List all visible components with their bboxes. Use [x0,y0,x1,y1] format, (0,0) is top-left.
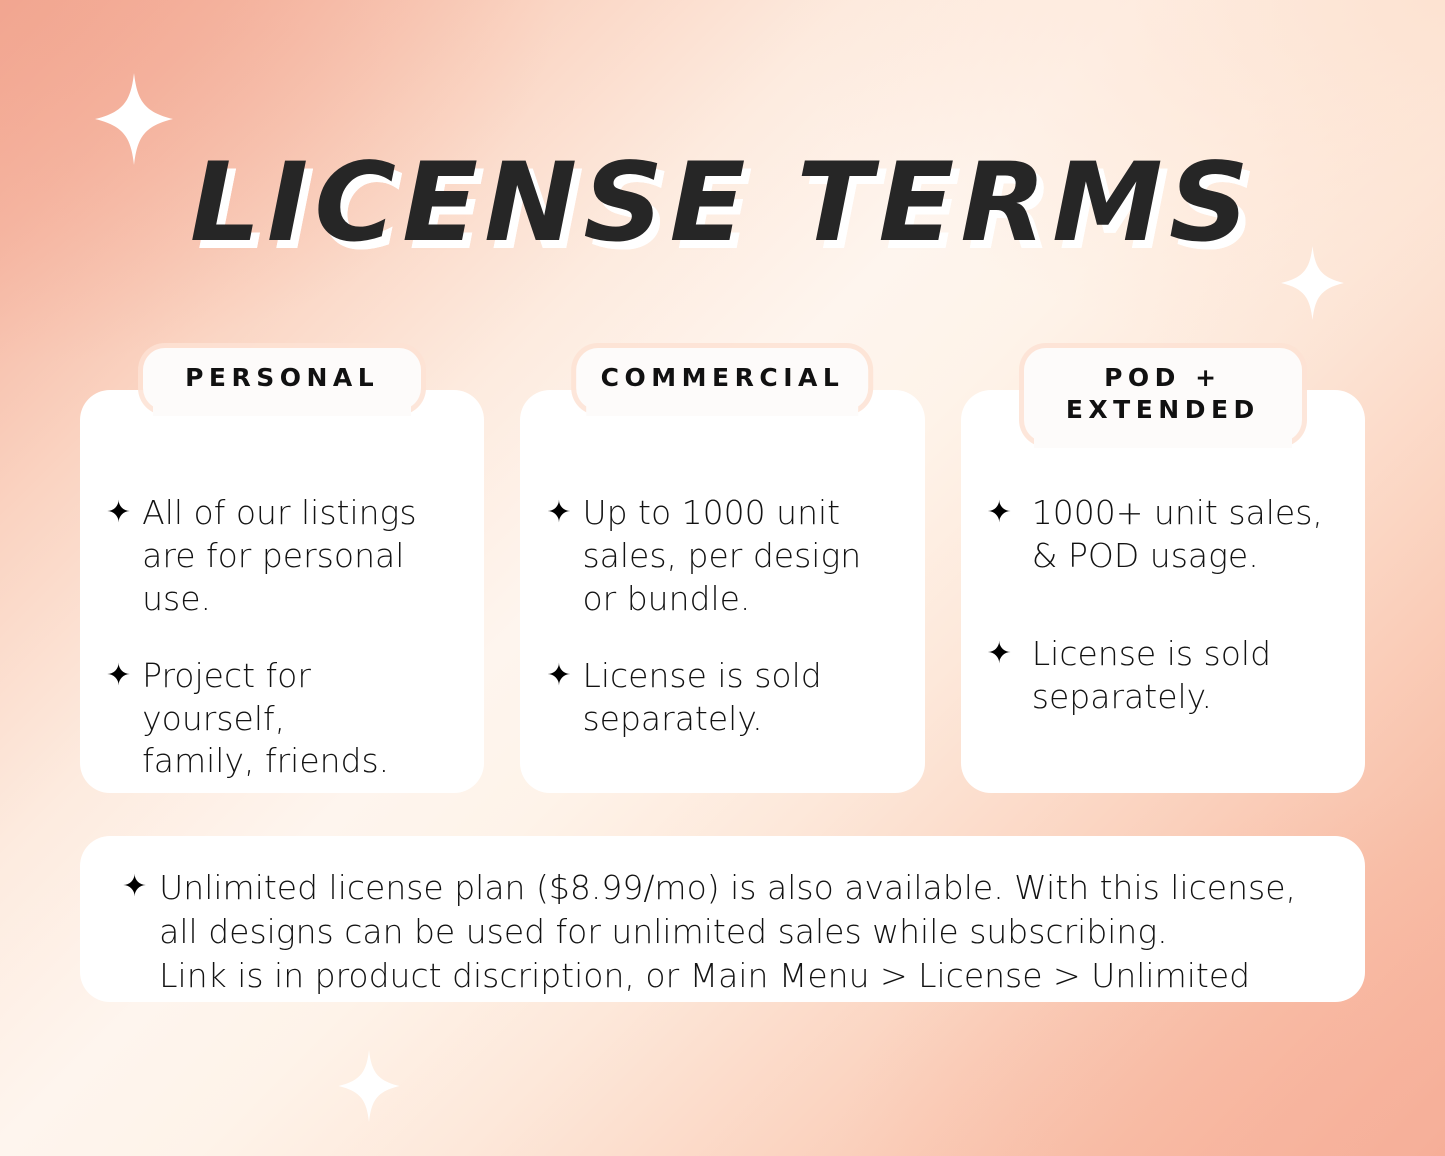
license-tiers-row: PERSONAL ✦ All of our listings are for p… [80,390,1365,793]
sparkle-bullet-icon: ✦ [106,492,131,533]
sparkle-bullet-icon: ✦ [546,492,571,533]
card-title: POD + EXTENDED [1048,362,1278,426]
list-item: ✦ 1000+ unit sales, & POD usage. [987,492,1341,578]
card-bullet-list: ✦ All of our listings are for personal u… [80,492,484,783]
unlimited-plan-banner-inner: ✦ Unlimited license plan ($8.99/mo) is a… [80,836,1365,999]
card-header-personal: PERSONAL [143,348,421,410]
license-card-personal[interactable]: PERSONAL ✦ All of our listings are for p… [80,390,484,793]
list-item-label: All of our listings are for personal use… [142,492,460,621]
page-title: LICENSE TERMS [0,148,1445,257]
card-bullet-list: ✦ 1000+ unit sales, & POD usage. ✦ Licen… [961,492,1365,774]
list-item-label: License is sold separately. [582,655,900,741]
list-item-label: Project for yourself, family, friends. [142,655,460,784]
card-bullet-list: ✦ Up to 1000 unit sales, per design or b… [520,492,924,740]
list-item: ✦ Project for yourself, family, friends. [106,655,460,784]
sparkle-bullet-icon: ✦ [106,655,131,696]
card-title: PERSONAL [167,362,397,394]
list-item: ✦ License is sold separately. [987,633,1341,719]
list-item-label: License is sold separately. [1032,633,1341,719]
sparkle-bullet-icon: ✦ [122,866,147,908]
sparkle-bullet-icon: ✦ [987,633,1012,674]
list-item: ✦ All of our listings are for personal u… [106,492,460,621]
list-item: ✦ Up to 1000 unit sales, per design or b… [546,492,900,621]
card-header-commercial: COMMERCIAL [577,348,869,410]
sparkle-bullet-icon: ✦ [546,655,571,696]
license-card-pod-extended[interactable]: POD + EXTENDED ✦ 1000+ unit sales, & POD… [961,390,1365,793]
unlimited-plan-banner[interactable]: ✦ Unlimited license plan ($8.99/mo) is a… [80,836,1365,1002]
card-title: COMMERCIAL [601,362,845,394]
sparkle-bullet-icon: ✦ [987,492,1012,533]
list-item: ✦ License is sold separately. [546,655,900,741]
list-item-label: 1000+ unit sales, & POD usage. [1032,492,1341,578]
license-card-commercial[interactable]: COMMERCIAL ✦ Up to 1000 unit sales, per … [520,390,924,793]
list-item-label: Up to 1000 unit sales, per design or bun… [582,492,900,621]
card-header-pod-extended: POD + EXTENDED [1024,348,1302,442]
unlimited-plan-text: Unlimited license plan ($8.99/mo) is als… [159,866,1296,999]
